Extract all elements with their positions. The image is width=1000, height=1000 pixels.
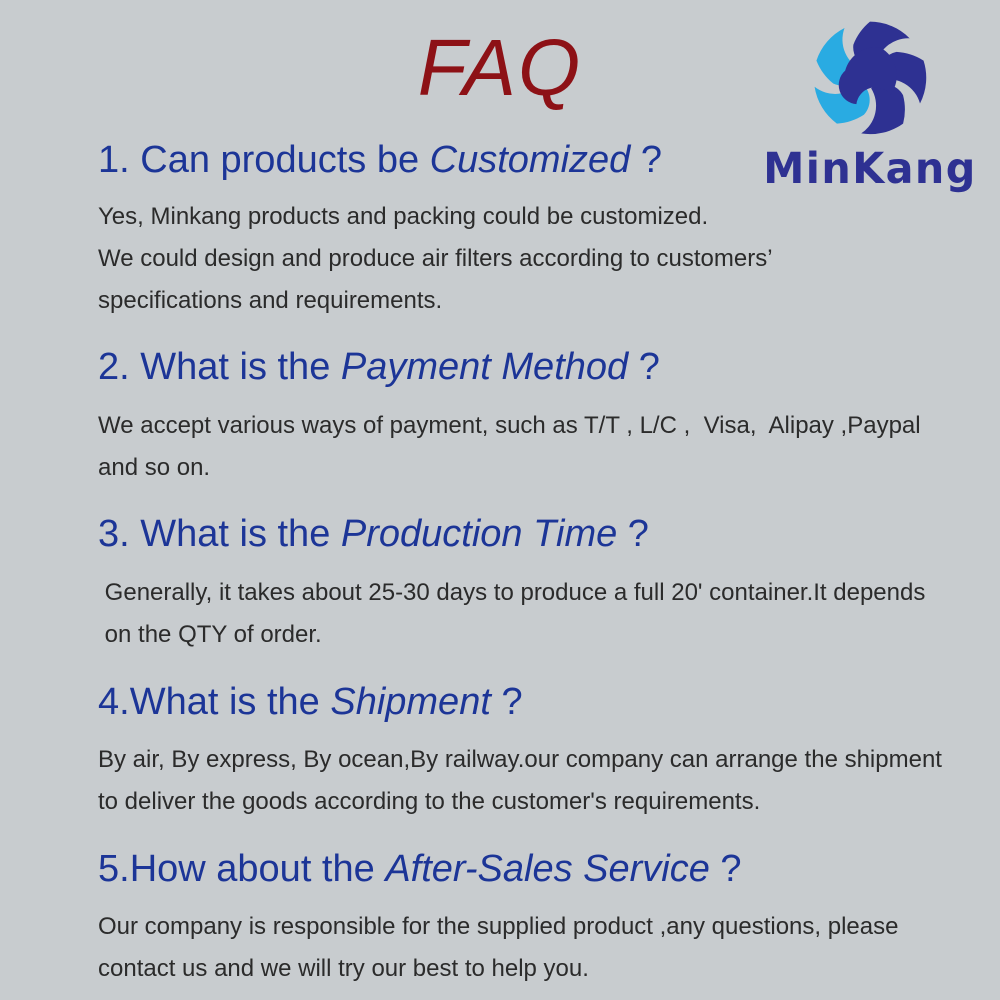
- faq-question-1-number: 1.: [98, 139, 140, 181]
- faq-question-1-emphasis: Customized: [430, 139, 631, 181]
- faq-question-4-emphasis: Shipment: [330, 681, 491, 723]
- faq-answer-1: Yes, Minkang products and packing could …: [98, 196, 978, 322]
- minkang-swirl-logo-icon: [806, 14, 934, 142]
- faq-question-2: 2. What is the Payment Method ?: [98, 339, 978, 395]
- faq-question-3-lead: What is the: [140, 513, 341, 555]
- faq-question-4: 4.What is the Shipment ?: [98, 674, 978, 730]
- faq-answer-2: We accept various ways of payment, such …: [98, 405, 978, 489]
- faq-question-3-number: 3.: [98, 513, 140, 555]
- faq-answer-3: Generally, it takes about 25-30 days to …: [98, 572, 978, 656]
- faq-item-5: 5.How about the After-Sales Service ? Ou…: [98, 841, 978, 990]
- faq-item-1: 1. Can products be Customized ? Yes, Min…: [98, 132, 978, 322]
- faq-question-3-emphasis: Production Time: [341, 513, 617, 555]
- faq-question-5-number: 5.: [98, 848, 130, 890]
- faq-question-3: 3. What is the Production Time ?: [98, 506, 978, 562]
- faq-question-2-number: 2.: [98, 346, 140, 388]
- faq-question-2-emphasis: Payment Method: [341, 346, 628, 388]
- faq-item-2: 2. What is the Payment Method ? We accep…: [98, 339, 978, 489]
- faq-content: 1. Can products be Customized ? Yes, Min…: [98, 132, 978, 990]
- faq-question-4-tail: ?: [491, 681, 523, 723]
- faq-question-3-tail: ?: [617, 513, 649, 555]
- faq-question-1-lead: Can products be: [140, 139, 429, 181]
- faq-question-5-lead: How about the: [130, 848, 386, 890]
- faq-item-3: 3. What is the Production Time ? General…: [98, 506, 978, 656]
- faq-question-1-tail: ?: [630, 139, 662, 181]
- faq-answer-5: Our company is responsible for the suppl…: [98, 906, 978, 990]
- faq-question-4-number: 4.: [98, 681, 130, 723]
- faq-answer-4: By air, By express, By ocean,By railway.…: [98, 739, 978, 823]
- faq-question-5-tail: ?: [710, 848, 742, 890]
- faq-question-1: 1. Can products be Customized ?: [98, 132, 978, 188]
- faq-question-2-lead: What is the: [140, 346, 341, 388]
- faq-question-5-emphasis: After-Sales Service: [385, 848, 710, 890]
- faq-question-2-tail: ?: [628, 346, 660, 388]
- faq-question-5: 5.How about the After-Sales Service ?: [98, 841, 978, 897]
- faq-question-4-lead: What is the: [130, 681, 331, 723]
- faq-item-4: 4.What is the Shipment ? By air, By expr…: [98, 674, 978, 823]
- faq-page: FAQ: [0, 0, 1000, 1000]
